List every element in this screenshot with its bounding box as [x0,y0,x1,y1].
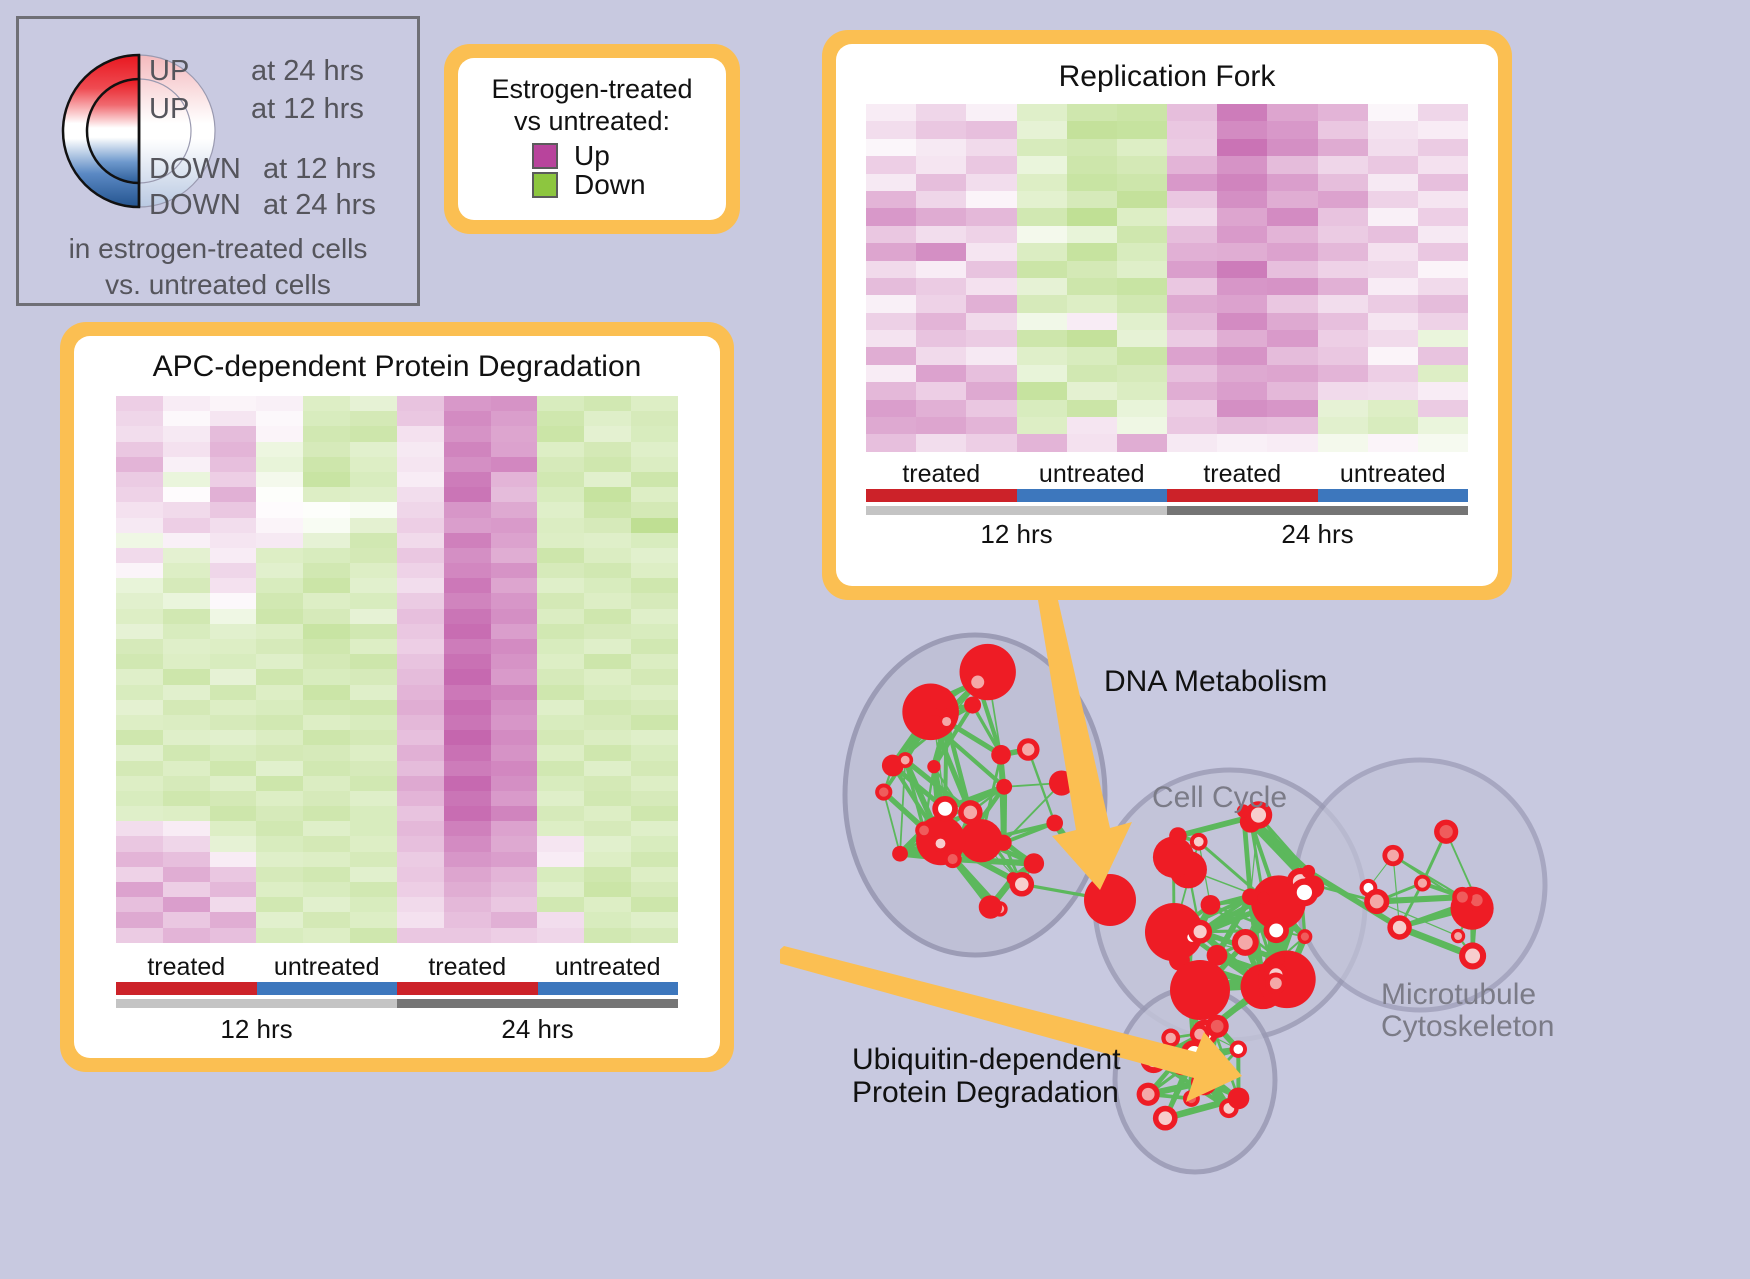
network-node [1302,865,1315,878]
heatmap-cell [1017,295,1067,312]
heatmap-cell [1318,434,1368,451]
heatmap-cell [303,472,350,487]
heatmap-cell [210,912,257,927]
heatmap-cell [631,806,678,821]
heatmap-cell [631,609,678,624]
heatmap-cell [116,745,163,760]
heatmap-cell [163,624,210,639]
heatmap-cell [1267,313,1317,330]
heatmap-cell [210,685,257,700]
network-node [1137,1083,1160,1106]
heatmap-cell [1418,295,1468,312]
heatmap-cell [584,852,631,867]
heatmap-cell [256,897,303,912]
heatmap-cell [631,654,678,669]
heatmap-cell [537,593,584,608]
heatmap-cell [444,745,491,760]
heatmap-cell [1368,226,1418,243]
time-bar [116,999,397,1008]
heatmap-cell [1167,347,1217,364]
time-label: 12 hrs [116,1014,397,1045]
heatmap-cell [1368,278,1418,295]
heatmap-cell [584,700,631,715]
heatmap-cell [397,761,444,776]
network-node [1188,920,1212,944]
heatmap-cell [444,624,491,639]
heatmap-cell [491,882,538,897]
heatmap-cell [397,730,444,745]
heatmap-cell [491,609,538,624]
heatmap-cell [1318,139,1368,156]
heatmap-cell [303,745,350,760]
heatmap-cell [163,518,210,533]
heatmap-cell [1217,261,1267,278]
heatmap-cell [631,912,678,927]
heatmap-cell [1067,104,1117,121]
heatmap-cell [397,487,444,502]
heatmap-cell [631,487,678,502]
heatmap-cell [584,867,631,882]
heatmap-cell [397,745,444,760]
heatmap-cell [444,821,491,836]
heatmap-cell [303,578,350,593]
cluster-label-dna-metabolism: DNA Metabolism [1104,665,1327,699]
heatmap-cell [1418,365,1468,382]
heatmap-cell [1217,400,1267,417]
heatmap-cell [866,434,916,451]
heatmap-cell [444,518,491,533]
heatmap-cell [1368,104,1418,121]
heatmap-cell [1067,261,1117,278]
heatmap-cell [397,654,444,669]
network-node [1242,888,1259,905]
heatmap-cell [116,472,163,487]
network-node [1459,942,1486,969]
network-node [892,846,908,862]
heatmap-cell [256,654,303,669]
heatmap-cell [1318,382,1368,399]
heatmap-cell [631,761,678,776]
heatmap-cell [916,313,966,330]
legend-item-up-label: Up [574,142,610,170]
heatmap-cell [1017,139,1067,156]
heatmap-cell [303,624,350,639]
heatmap-cell [1067,226,1117,243]
heatmap-cell [1117,382,1167,399]
heatmap-cell [303,821,350,836]
heatmap-cell [537,852,584,867]
heatmap-cell [303,700,350,715]
heatmap-cell [1067,365,1117,382]
heatmap-cell [1167,417,1217,434]
heatmap-cell [1368,156,1418,173]
heatmap-cell [1217,139,1267,156]
heatmap-cell [350,669,397,684]
heatmap-cell [1267,226,1317,243]
heatmap-cell [303,867,350,882]
heatmap-cell [163,396,210,411]
heatmap-cell [116,715,163,730]
heatmap-cell [303,411,350,426]
heatmap-cell [303,518,350,533]
heatmap-cell [1318,417,1368,434]
legend-up-12-suffix: at 12 hrs [251,93,364,126]
heatmap-cell [256,852,303,867]
heatmap-cell [163,685,210,700]
heatmap-cell [866,139,916,156]
heatmap-cell [537,715,584,730]
heatmap-cell [444,791,491,806]
cluster-label-cell-cycle: Cell Cycle [1152,781,1287,815]
heatmap-cell [1017,104,1067,121]
heatmap-cell [631,897,678,912]
time-bar [397,999,678,1008]
heatmap-cell [1067,243,1117,260]
heatmap-cell [1267,365,1317,382]
heatmap-cell [210,669,257,684]
heatmap-cell [491,897,538,912]
heatmap-cell [397,442,444,457]
treatment-bar [1167,489,1318,502]
heatmap-cell [1217,226,1267,243]
heatmap-cell [1167,156,1217,173]
cluster-label-ubiquitin-line2: Protein Degradation [852,1076,1121,1109]
heatmap-cell [444,396,491,411]
heatmap-cell [350,700,397,715]
heatmap-cell [350,533,397,548]
heatmap-cell [916,434,966,451]
heatmap-cell [210,396,257,411]
heatmap-cell [1318,295,1368,312]
heatmap-cell [444,593,491,608]
heatmap-cell [866,174,916,191]
heatmap-cell [397,502,444,517]
heatmap-cell [966,400,1016,417]
heatmap-cell [163,791,210,806]
heatmap-cell [916,121,966,138]
heatmap-cell [397,715,444,730]
heatmap-cell [491,472,538,487]
heatmap-cell [631,867,678,882]
heatmap-cell [350,472,397,487]
heatmap-cell [584,609,631,624]
apc-heatmap [116,396,678,943]
cluster-label-microtubule-line2: Cytoskeleton [1381,1011,1554,1043]
heatmap-cell [866,208,916,225]
heatmap-cell [303,882,350,897]
heatmap-cell [1067,208,1117,225]
network-node [966,670,990,694]
heatmap-cell [163,654,210,669]
heatmap-cell [163,669,210,684]
heatmap-cell [866,121,916,138]
heatmap-cell [631,745,678,760]
legend-down-12-suffix: at 12 hrs [263,153,376,186]
heatmap-cell [1267,174,1317,191]
heatmap-cell [491,548,538,563]
group-label: untreated [257,953,398,982]
heatmap-cell [1117,243,1167,260]
heatmap-cell [1017,417,1067,434]
heatmap-cell [916,365,966,382]
network-node [1290,879,1318,907]
replication-fork-time-labels: 12 hrs 24 hrs [866,519,1468,550]
heatmap-cell [1117,347,1167,364]
heatmap-cell [210,426,257,441]
network-node [1297,929,1312,944]
legend-caption-line1: in estrogen-treated cells [19,233,417,265]
network-node [1201,895,1221,915]
network-node [1170,960,1230,1020]
heatmap-cell [537,639,584,654]
heatmap-cell [1368,295,1418,312]
heatmap-cell [303,609,350,624]
heatmap-cell [584,654,631,669]
heatmap-cell [1368,208,1418,225]
heatmap-cell [537,836,584,851]
heatmap-cell [537,928,584,943]
heatmap-cell [1117,261,1167,278]
heatmap-cell [397,593,444,608]
heatmap-cell [350,624,397,639]
heatmap-cell [1217,104,1267,121]
heatmap-cell [350,776,397,791]
heatmap-cell [256,761,303,776]
network-node [979,895,1002,918]
heatmap-cell [584,548,631,563]
network-node [1153,1106,1178,1131]
heatmap-cell [116,518,163,533]
network-node [1169,827,1187,845]
heatmap-cell [491,715,538,730]
heatmap-cell [1267,330,1317,347]
heatmap-cell [256,928,303,943]
heatmap-cell [631,836,678,851]
heatmap-cell [1117,330,1167,347]
heatmap-cell [537,518,584,533]
heatmap-cell [350,639,397,654]
heatmap-cell [584,563,631,578]
network-edge [1004,787,1005,843]
heatmap-cell [1217,208,1267,225]
heatmap-cell [303,897,350,912]
heatmap-cell [1017,382,1067,399]
heatmap-cell [491,533,538,548]
heatmap-cell [1418,347,1468,364]
network-node [1382,845,1403,866]
heatmap-cell [397,472,444,487]
heatmap-cell [1167,121,1217,138]
heatmap-cell [966,365,1016,382]
network-node [1009,872,1034,897]
heatmap-cell [1318,313,1368,330]
heatmap-cell [866,278,916,295]
heatmap-cell [631,548,678,563]
heatmap-cell [397,852,444,867]
heatmap-cell [397,578,444,593]
heatmap-cell [256,578,303,593]
heatmap-cell [210,745,257,760]
heatmap-cell [1017,313,1067,330]
heatmap-cell [1167,261,1217,278]
heatmap-cell [350,518,397,533]
heatmap-cell [916,139,966,156]
heatmap-cell [350,609,397,624]
network-node [932,796,958,822]
heatmap-cell [1167,243,1217,260]
heatmap-cell [444,639,491,654]
network-node [1228,1087,1250,1109]
heatmap-cell [1418,243,1468,260]
group-label: treated [1167,460,1318,489]
heatmap-cell [1067,295,1117,312]
heatmap-cell [210,533,257,548]
heatmap-cell [163,700,210,715]
heatmap-cell [163,852,210,867]
heatmap-cell [210,548,257,563]
heatmap-cell [163,745,210,760]
heatmap-cell [163,411,210,426]
heatmap-cell [163,867,210,882]
heatmap-cell [866,295,916,312]
legend-caption-line2: vs. untreated cells [19,269,417,301]
heatmap-cell [163,442,210,457]
heatmap-cell [350,502,397,517]
heatmap-cell [584,472,631,487]
group-label: treated [866,460,1017,489]
heatmap-cell [1017,365,1067,382]
heatmap-cell [256,502,303,517]
heatmap-cell [444,472,491,487]
heatmap-cell [256,442,303,457]
heatmap-cell [631,639,678,654]
heatmap-cell [303,487,350,502]
heatmap-cell [303,426,350,441]
heatmap-cell [256,593,303,608]
heatmap-cell [444,867,491,882]
heatmap-cell [1117,121,1167,138]
heatmap-cell [1267,121,1317,138]
heatmap-cell [537,745,584,760]
heatmap-cell [1117,278,1167,295]
up-color-swatch [532,143,558,169]
heatmap-cell [256,411,303,426]
heatmap-cell [966,174,1016,191]
heatmap-cell [210,411,257,426]
heatmap-cell [966,208,1016,225]
heatmap-cell [916,226,966,243]
heatmap-cell [537,548,584,563]
legend-down-12-label: DOWN [149,153,241,186]
heatmap-cell [584,502,631,517]
network-node [1140,1047,1167,1074]
heatmap-cell [584,912,631,927]
heatmap-cell [350,912,397,927]
heatmap-cell [1017,208,1067,225]
heatmap-cell [1318,104,1368,121]
apc-treatment-bars [116,982,678,995]
heatmap-cell [256,563,303,578]
heatmap-cell [1318,347,1368,364]
heatmap-cell [631,821,678,836]
heatmap-cell [1267,261,1317,278]
heatmap-cell [397,685,444,700]
heatmap-cell [916,156,966,173]
replication-fork-group-labels: treated untreated treated untreated [866,460,1468,489]
heatmap-cell [1368,261,1418,278]
heatmap-cell [537,912,584,927]
heatmap-cell [256,836,303,851]
heatmap-cell [1017,156,1067,173]
heatmap-cell [1017,226,1067,243]
legend-up-24-suffix: at 24 hrs [251,55,364,88]
heatmap-cell [1418,400,1468,417]
heatmap-cell [303,715,350,730]
heatmap-cell [444,548,491,563]
heatmap-cell [1217,121,1267,138]
heatmap-cell [1368,191,1418,208]
heatmap-cell [1368,121,1418,138]
heatmap-cell [1217,417,1267,434]
heatmap-cell [116,457,163,472]
time-bar [866,506,1167,515]
heatmap-cell [350,685,397,700]
heatmap-cell [1318,191,1368,208]
heatmap-cell [256,700,303,715]
heatmap-cell [631,791,678,806]
heatmap-cell [397,791,444,806]
heatmap-cell [444,442,491,457]
heatmap-cell [116,609,163,624]
heatmap-cell [1318,208,1368,225]
heatmap-cell [397,457,444,472]
heatmap-cell [866,347,916,364]
heatmap-cell [116,761,163,776]
heatmap-cell [491,928,538,943]
heatmap-cell [537,578,584,593]
heatmap-cell [116,426,163,441]
heatmap-cell [303,533,350,548]
treatment-bar [1017,489,1168,502]
heatmap-cell [444,715,491,730]
heatmap-cell [916,208,966,225]
heatmap-cell [210,852,257,867]
heatmap-cell [866,104,916,121]
heatmap-cell [444,700,491,715]
heatmap-cell [631,578,678,593]
heatmap-cell [116,624,163,639]
heatmap-cell [210,791,257,806]
heatmap-cell [397,776,444,791]
heatmap-cell [210,457,257,472]
heatmap-cell [256,745,303,760]
heatmap-cell [444,654,491,669]
heatmap-cell [256,669,303,684]
heatmap-cell [1418,382,1468,399]
heatmap-cell [303,639,350,654]
heatmap-cell [1017,434,1067,451]
heatmap-cell [584,928,631,943]
heatmap-cell [966,121,1016,138]
group-label: untreated [538,953,679,982]
network-node [897,752,913,768]
heatmap-cell [210,442,257,457]
heatmap-cell [163,487,210,502]
heatmap-cell [397,867,444,882]
heatmap-cell [537,882,584,897]
heatmap-cell [350,897,397,912]
heatmap-cell [1067,417,1117,434]
